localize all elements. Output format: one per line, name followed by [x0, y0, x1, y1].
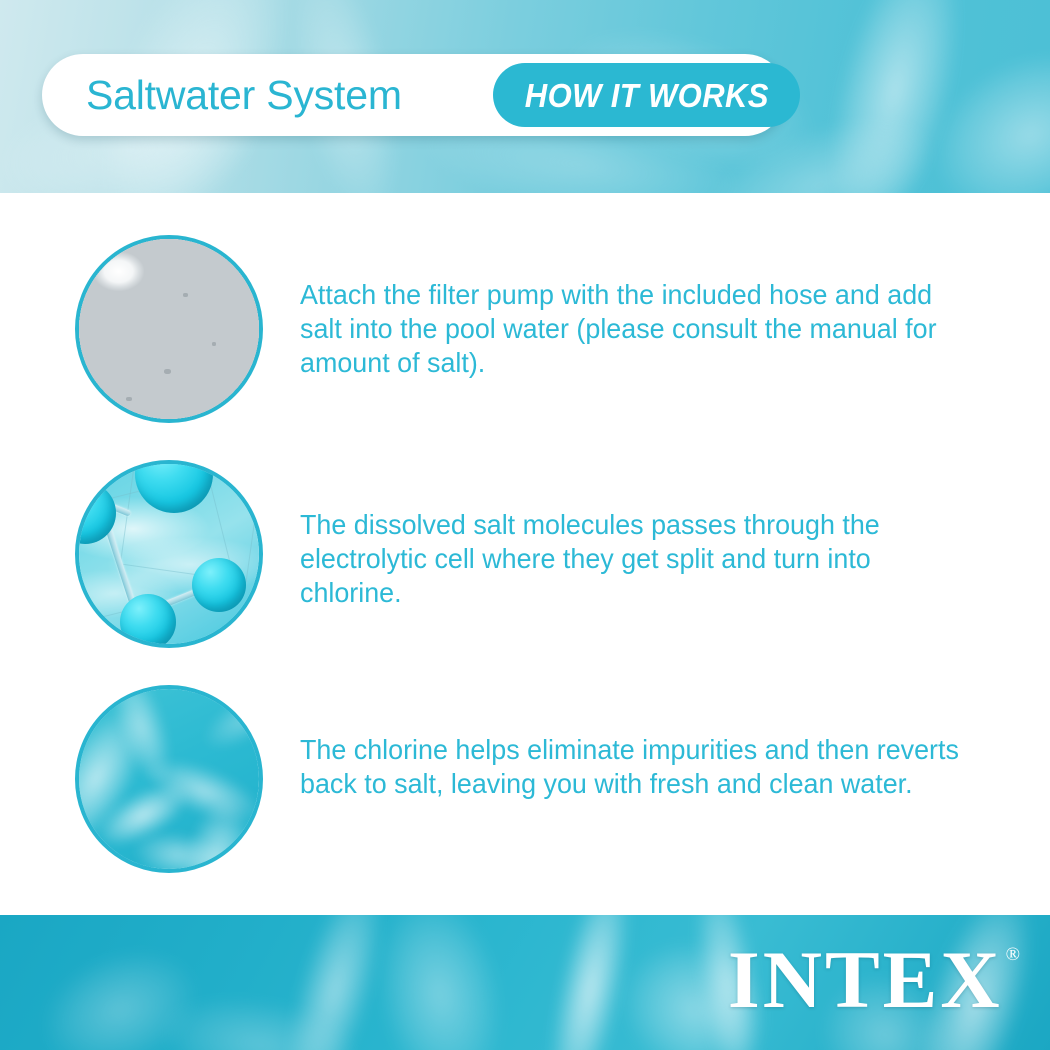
header-banner: Saltwater System HOW IT WORKS [0, 0, 1050, 193]
salt-crystals-texture [79, 239, 259, 419]
step-row: The dissolved salt molecules passes thro… [0, 460, 1050, 650]
salt-speck [164, 369, 171, 374]
water-caustic-streak [906, 22, 1050, 193]
step-description: Attach the filter pump with the included… [300, 278, 962, 380]
page-title: Saltwater System [86, 75, 402, 116]
salt-speck [212, 342, 216, 346]
clean-water-icon [75, 685, 263, 873]
registered-trademark-icon: ® [1006, 945, 1020, 964]
step-description: The dissolved salt molecules passes thro… [300, 508, 962, 610]
title-pill: Saltwater System HOW IT WORKS [42, 54, 786, 136]
molecule-atom [120, 594, 176, 648]
water-caustic-streak [154, 983, 367, 1050]
footer-banner: INTEX ® [0, 915, 1050, 1050]
water-caustic-streak [535, 915, 646, 1050]
how-it-works-label: HOW IT WORKS [524, 79, 768, 112]
water-caustic-streak [25, 929, 215, 1050]
intex-wordmark: INTEX [728, 939, 1003, 1021]
water-caustic-streak [805, 0, 984, 193]
intex-logo: INTEX ® [728, 939, 1020, 1021]
main-content: Attach the filter pump with the included… [0, 193, 1050, 915]
step-row: The chlorine helps eliminate impurities … [0, 685, 1050, 875]
step-row: Attach the filter pump with the included… [0, 235, 1050, 425]
water-caustic-streak [364, 915, 517, 1050]
step-description: The chlorine helps eliminate impurities … [300, 733, 962, 801]
salt-molecule-icon [75, 460, 263, 648]
pool-water-texture [79, 689, 259, 869]
salt-crystals-icon [75, 235, 263, 423]
molecule-atom [192, 558, 246, 612]
water-caustic-streak [270, 915, 401, 1050]
how-it-works-badge: HOW IT WORKS [493, 63, 800, 127]
